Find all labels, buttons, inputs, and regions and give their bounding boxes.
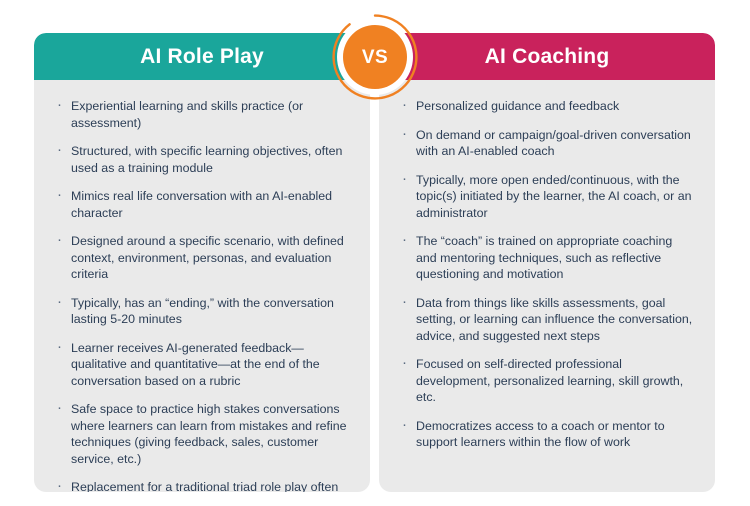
bullet-list-ai-coaching: Personalized guidance and feedback On de… — [379, 80, 715, 451]
column-header-ai-role-play: AI Role Play — [34, 33, 370, 80]
column-title: AI Role Play — [140, 46, 264, 67]
list-item: The “coach” is trained on appropriate co… — [401, 233, 695, 283]
column-header-ai-coaching: AI Coaching — [379, 33, 715, 80]
list-item: Designed around a specific scenario, wit… — [56, 233, 350, 283]
list-item: Typically, more open ended/continuous, w… — [401, 172, 695, 222]
list-item: Democratizes access to a coach or mentor… — [401, 418, 695, 451]
comparison-column-ai-coaching: AI Coaching Personalized guidance and fe… — [379, 33, 715, 492]
comparison-infographic: AI Role Play Experiential learning and s… — [0, 0, 750, 506]
list-item: Safe space to practice high stakes conve… — [56, 401, 350, 467]
list-item: Mimics real life conversation with an AI… — [56, 188, 350, 221]
vs-badge-label: VS — [362, 48, 388, 67]
list-item: Structured, with specific learning objec… — [56, 143, 350, 176]
list-item: On demand or campaign/goal-driven conver… — [401, 127, 695, 160]
comparison-column-ai-role-play: AI Role Play Experiential learning and s… — [34, 33, 370, 492]
vs-badge-disc: VS — [343, 25, 407, 89]
list-item: Focused on self-directed professional de… — [401, 356, 695, 406]
bullet-list-ai-role-play: Experiential learning and skills practic… — [34, 80, 370, 492]
list-item: Experiential learning and skills practic… — [56, 98, 350, 131]
list-item: Personalized guidance and feedback — [401, 98, 695, 115]
list-item: Learner receives AI-generated feedback—q… — [56, 340, 350, 390]
column-title: AI Coaching — [485, 46, 610, 67]
list-item: Typically, has an “ending,” with the con… — [56, 295, 350, 328]
list-item: Replacement for a traditional triad role… — [56, 479, 350, 492]
list-item: Data from things like skills assessments… — [401, 295, 695, 345]
vs-badge: VS — [331, 13, 419, 101]
